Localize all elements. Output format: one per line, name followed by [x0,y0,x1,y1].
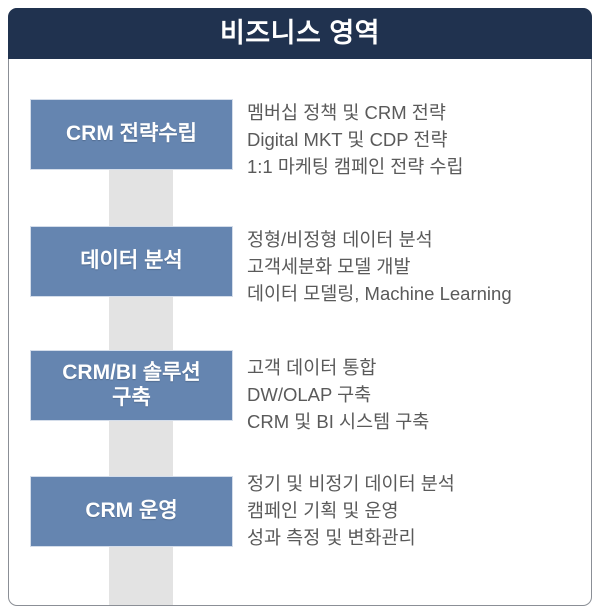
page-title: 비즈니스 영역 [220,20,380,47]
process-step-row: CRM 운영 정기 및 비정기 데이터 분석 캠페인 기획 및 운영 성과 측정… [0,476,602,548]
description-line: 정형/비정형 데이터 분석 [247,226,587,253]
process-step-row: 데이터 분석 정형/비정형 데이터 분석 고객세분화 모델 개발 데이터 모델링… [0,226,602,298]
description-line: DW/OLAP 구축 [247,381,587,408]
description-line: 캠페인 기획 및 운영 [247,497,587,524]
stage-description-data-analysis: 정형/비정형 데이터 분석 고객세분화 모델 개발 데이터 모델링, Machi… [247,226,587,308]
stage-description-crm-bi-solution: 고객 데이터 통합 DW/OLAP 구축 CRM 및 BI 시스템 구축 [247,354,587,436]
description-line: 멤버십 정책 및 CRM 전략 [247,99,587,126]
stage-label: 데이터 분석 [80,249,182,273]
stage-description-crm-operation: 정기 및 비정기 데이터 분석 캠페인 기획 및 운영 성과 측정 및 변화관리 [247,470,587,552]
stage-label: CRM 전략수립 [66,122,197,146]
diagram-header: 비즈니스 영역 [8,8,592,59]
stage-box-crm-operation[interactable]: CRM 운영 [30,476,233,547]
description-line: Digital MKT 및 CDP 전략 [247,126,587,153]
description-line: 정기 및 비정기 데이터 분석 [247,470,587,497]
business-domain-diagram: 비즈니스 영역 CRM 전략수립 멤버십 정책 및 CRM 전략 Digital… [0,0,602,614]
description-line: 고객 데이터 통합 [247,354,587,381]
stage-box-data-analysis[interactable]: 데이터 분석 [30,226,233,297]
description-line: 1:1 마케팅 캠페인 전략 수립 [247,153,587,180]
stage-box-crm-bi-solution[interactable]: CRM/BI 솔루션 구축 [30,350,233,421]
description-line: CRM 및 BI 시스템 구축 [247,408,587,435]
process-step-row: CRM/BI 솔루션 구축 고객 데이터 통합 DW/OLAP 구축 CRM 및… [0,350,602,422]
stage-box-crm-strategy[interactable]: CRM 전략수립 [30,99,233,170]
process-step-row: CRM 전략수립 멤버십 정책 및 CRM 전략 Digital MKT 및 C… [0,99,602,171]
description-line: 데이터 모델링, Machine Learning [247,280,587,307]
description-line: 고객세분화 모델 개발 [247,253,587,280]
stage-label: CRM/BI 솔루션 구축 [62,361,200,410]
description-line: 성과 측정 및 변화관리 [247,524,587,551]
stage-description-crm-strategy: 멤버십 정책 및 CRM 전략 Digital MKT 및 CDP 전략 1:1… [247,99,587,181]
stage-label: CRM 운영 [85,499,177,523]
